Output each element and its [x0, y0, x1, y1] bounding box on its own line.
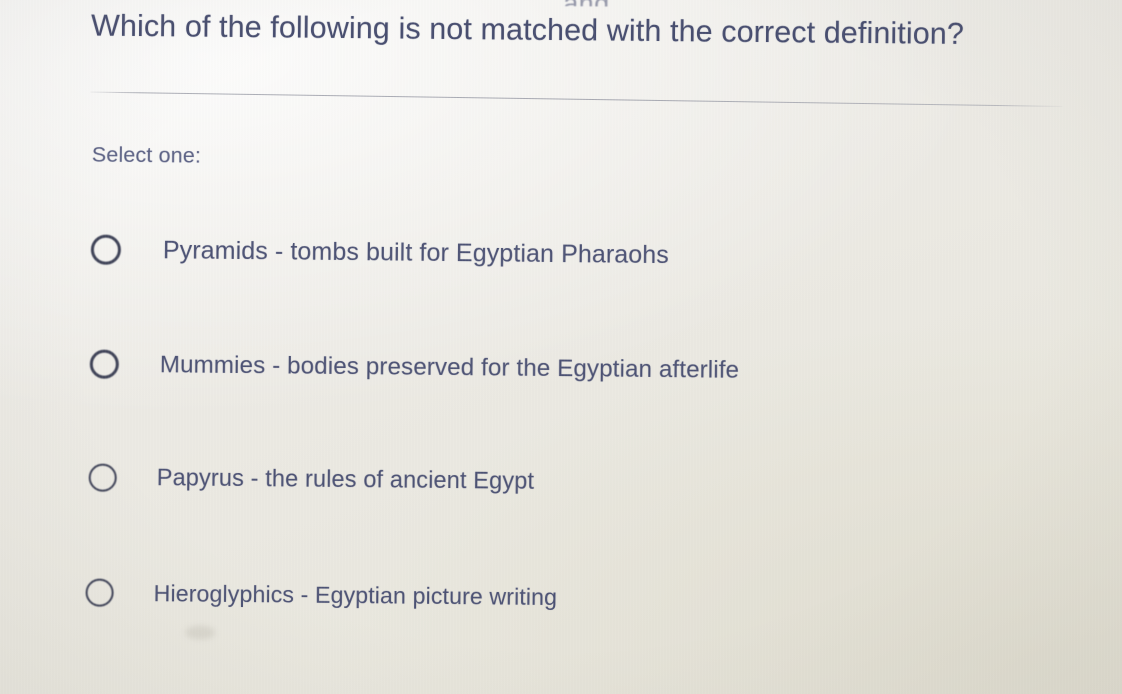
radio-button-icon[interactable]: [91, 235, 121, 265]
answer-option-label: Mummies - bodies preserved for the Egypt…: [160, 351, 740, 385]
question-text: Which of the following is not matched wi…: [91, 9, 1081, 54]
answer-option-label: Pyramids - tombs built for Egyptian Phar…: [163, 236, 669, 270]
answer-option-d[interactable]: Hieroglyphics - Egyptian picture writing: [85, 579, 557, 612]
photo-smudge-artifact: [185, 625, 215, 639]
cut-off-text-fragment: and: [563, 0, 893, 9]
radio-button-icon[interactable]: [89, 464, 117, 492]
answer-option-label: Hieroglyphics - Egyptian picture writing: [153, 580, 557, 611]
horizontal-divider: [90, 92, 1062, 107]
quiz-screenshot: and Which of the following is not matche…: [0, 0, 1122, 694]
radio-button-icon[interactable]: [90, 350, 119, 379]
answer-option-a[interactable]: Pyramids - tombs built for Egyptian Phar…: [91, 235, 669, 271]
content-plane: and Which of the following is not matche…: [0, 0, 1122, 694]
answer-option-b[interactable]: Mummies - bodies preserved for the Egypt…: [90, 350, 740, 385]
answer-option-label: Papyrus - the rules of ancient Egypt: [157, 465, 535, 496]
radio-button-icon[interactable]: [85, 579, 113, 607]
answer-option-c[interactable]: Papyrus - the rules of ancient Egypt: [89, 464, 535, 496]
select-one-label: Select one:: [92, 143, 201, 169]
